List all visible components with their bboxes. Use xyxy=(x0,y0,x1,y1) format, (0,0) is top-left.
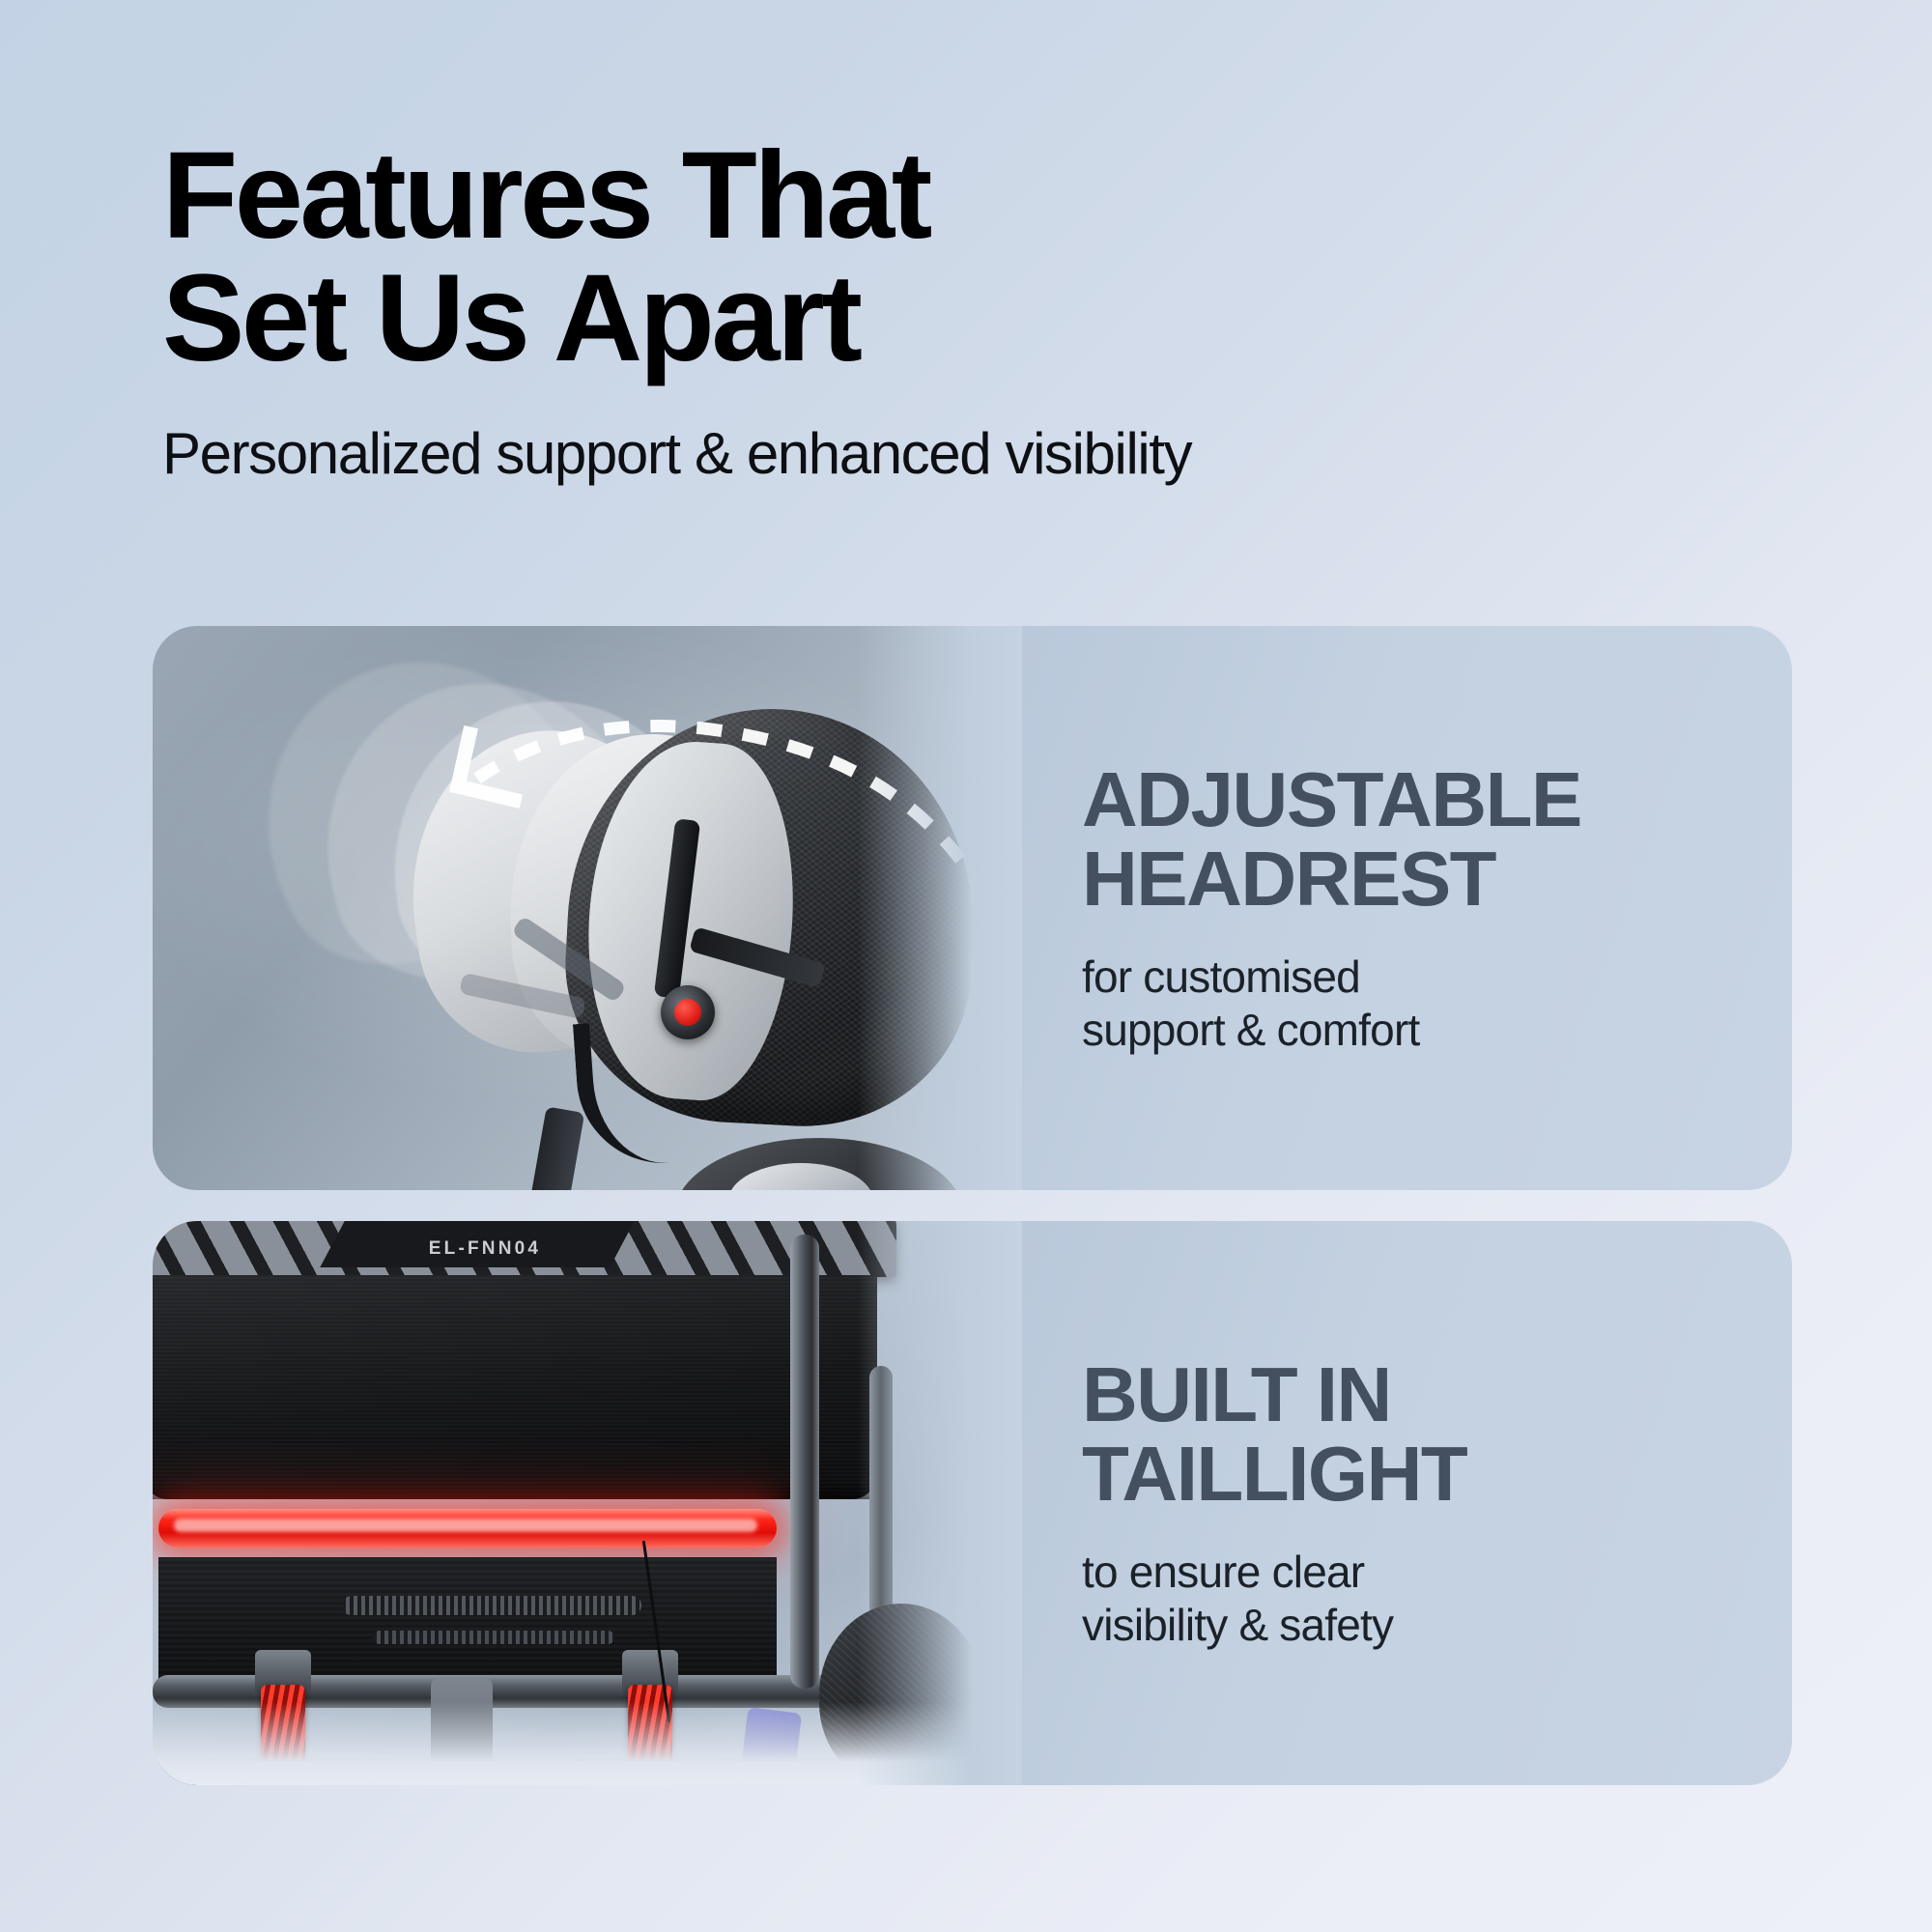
page-header: Features That Set Us Apart Personalized … xyxy=(162,135,1611,486)
feature-card-adjustable-headrest[interactable]: ADJUSTABLE HEADREST for customised suppo… xyxy=(153,626,1792,1190)
feature-card-built-in-taillight[interactable]: EL-FNN04 xyxy=(153,1221,1792,1785)
headrest-card-description: for customised support & comfort xyxy=(1082,951,1753,1056)
frame-tube-vertical-left xyxy=(790,1235,819,1689)
taillight-card-description: to ensure clear visibility & safety xyxy=(1082,1546,1753,1651)
page-title: Features That Set Us Apart xyxy=(162,135,1611,380)
taillight-led-core xyxy=(174,1519,757,1532)
headrest-card-title: ADJUSTABLE HEADREST xyxy=(1082,760,1753,918)
model-label: EL-FNN04 xyxy=(359,1238,611,1260)
page-subtitle: Personalized support & enhanced visibili… xyxy=(162,422,1611,486)
headrest-card-text: ADJUSTABLE HEADREST for customised suppo… xyxy=(1022,626,1792,1190)
headrest-product-image xyxy=(153,626,1022,1190)
media-right-fade xyxy=(858,1221,1022,1785)
lower-backrest-fabric xyxy=(158,1557,777,1683)
cable-conduit-lower xyxy=(373,1631,614,1644)
backrest-fabric xyxy=(153,1275,877,1499)
taillight-card-title: BUILT IN TAILLIGHT xyxy=(1082,1355,1753,1513)
taillight-card-text: BUILT IN TAILLIGHT to ensure clear visib… xyxy=(1022,1221,1792,1785)
feature-card-list: ADJUSTABLE HEADREST for customised suppo… xyxy=(153,626,1792,1785)
media-right-fade xyxy=(858,626,1022,1190)
taillight-product-image: EL-FNN04 xyxy=(153,1221,1022,1785)
cable-conduit-upper xyxy=(342,1596,641,1615)
